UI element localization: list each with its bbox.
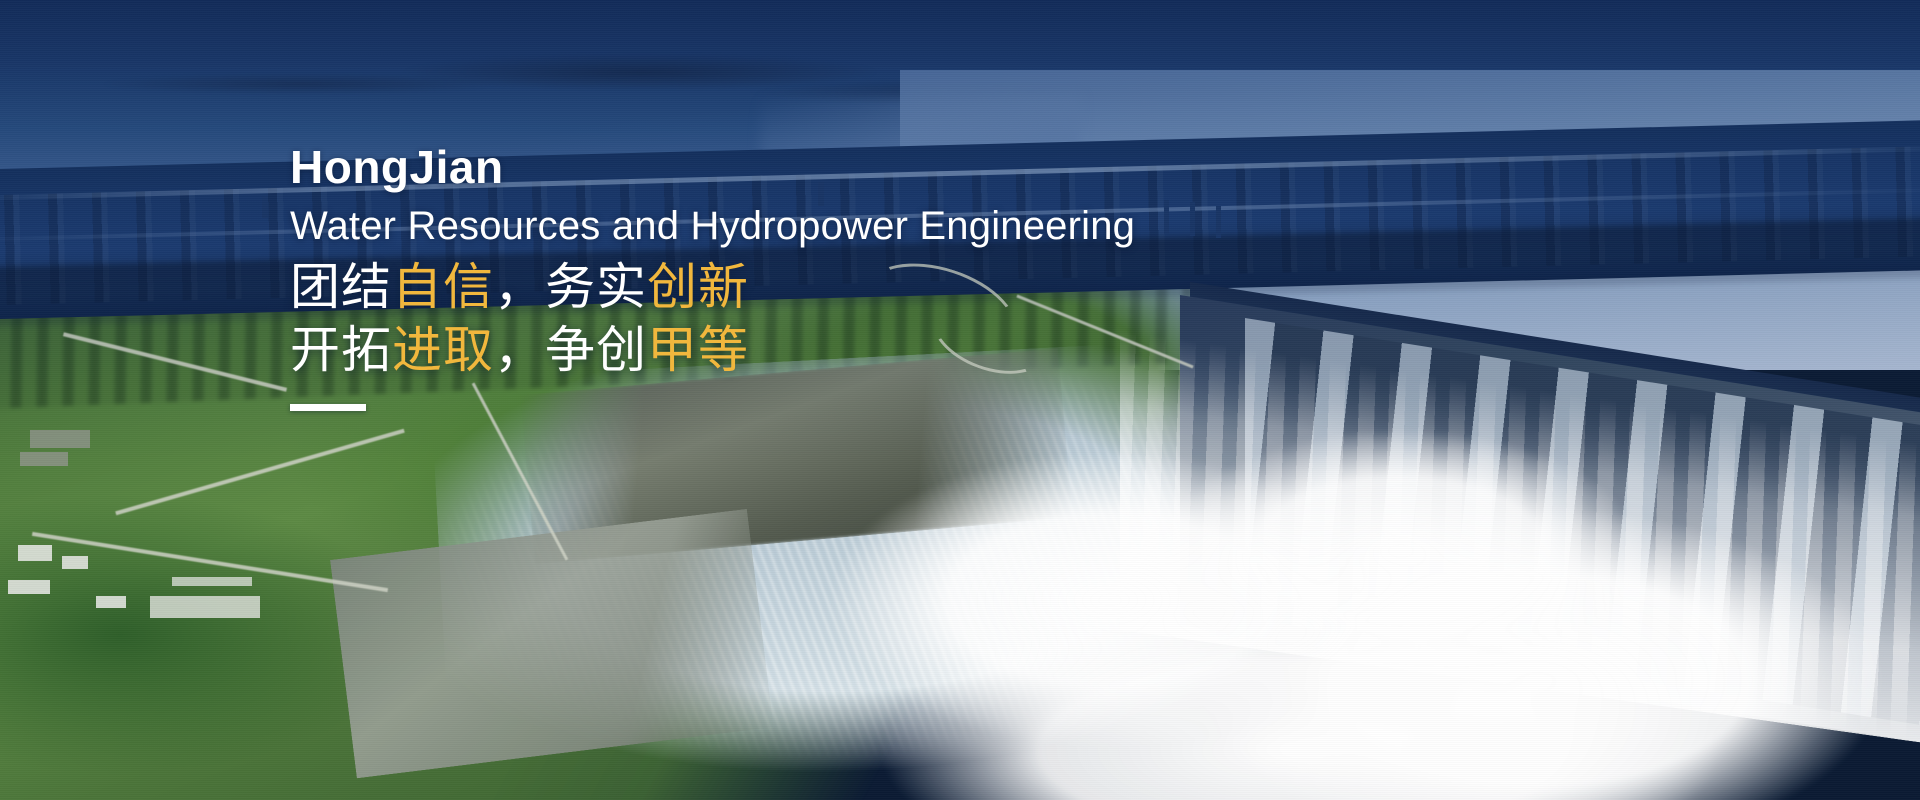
accent-rule-divider (290, 404, 366, 411)
slogan-2-part-1: 开拓 (290, 322, 392, 378)
slogan-line-1: 团结自信，务实创新 (290, 256, 1390, 319)
foam-plume (780, 430, 1920, 800)
building (18, 545, 52, 561)
dam-tower-icon (262, 196, 268, 218)
facility-yard (20, 452, 68, 466)
facility-yard (30, 430, 90, 448)
building (8, 580, 50, 594)
slogan-1-part-3: ，务实 (494, 259, 647, 315)
brand-tagline-english: Water Resources and Hydropower Engineeri… (290, 202, 1390, 250)
slogan-2-part-4-accent: 甲等 (647, 322, 749, 378)
slogan-line-2: 开拓进取，争创甲等 (290, 319, 1390, 382)
slogan-2-part-2-accent: 进取 (392, 322, 494, 378)
building (150, 596, 260, 618)
hero-copy: HongJian Water Resources and Hydropower … (290, 140, 1390, 411)
slogan-1-part-2-accent: 自信 (392, 259, 494, 315)
building (62, 556, 88, 569)
hero-banner: HongJian Water Resources and Hydropower … (0, 0, 1920, 800)
brand-title: HongJian (290, 140, 1390, 194)
slogan-1-part-1: 团结 (290, 259, 392, 315)
slogan-2-part-3: ，争创 (494, 322, 647, 378)
slogan-1-part-4-accent: 创新 (647, 259, 749, 315)
building (172, 577, 252, 586)
building (96, 596, 126, 608)
